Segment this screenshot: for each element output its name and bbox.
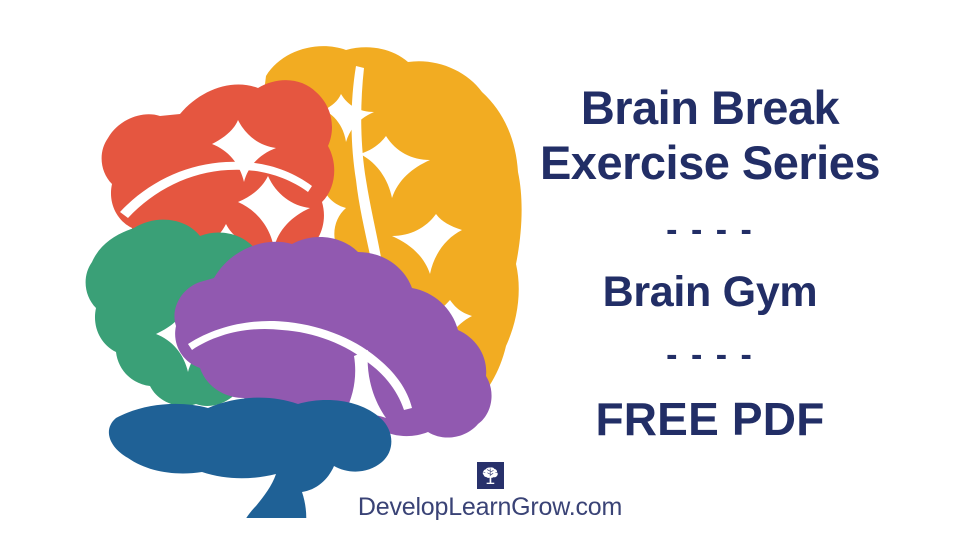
multicolor-brain-icon [30,28,540,518]
subheading: Brain Gym [500,269,920,316]
brand-name: DevelopLearnGrow.com [358,493,622,522]
promo-graphic-canvas: Brain Break Exercise Series - - - - Brai… [0,0,980,552]
divider-1: - - - - [500,213,920,249]
brain-tree-icon [477,462,504,489]
headline-line-1: Brain Break [500,80,920,135]
divider-2: - - - - [500,338,920,374]
free-pdf-callout: FREE PDF [500,394,920,445]
headline-line-2: Exercise Series [500,135,920,190]
promo-text-block: Brain Break Exercise Series - - - - Brai… [500,80,920,445]
brand-footer: DevelopLearnGrow.com [0,462,980,522]
